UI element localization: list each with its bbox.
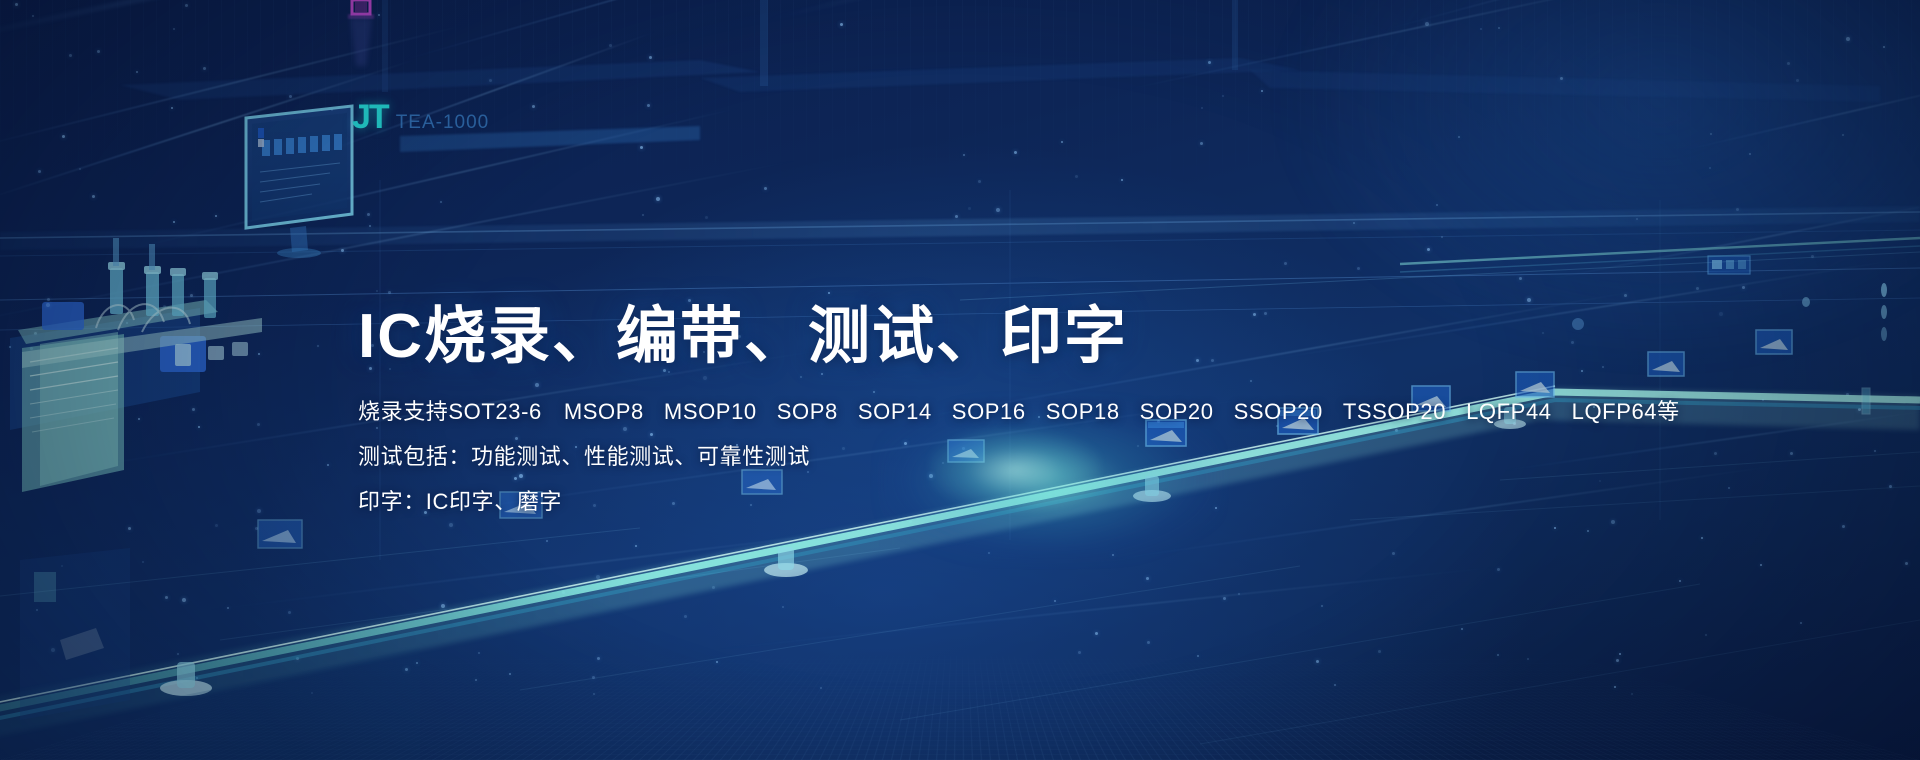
package-type-msop10: MSOP10 xyxy=(664,401,757,423)
ceiling-structures xyxy=(120,0,1880,102)
package-type-list: MSOP8MSOP10SOP8SOP14SOP16SOP18SOP20SSOP2… xyxy=(564,399,1680,424)
burn-support-label: 烧录支持SOT23-6 xyxy=(358,399,542,424)
left-machinery-unit xyxy=(10,238,262,492)
burn-support-line: 烧录支持SOT23-6MSOP8MSOP10SOP8SOP14SOP16SOP1… xyxy=(358,401,1618,423)
package-type-sop16: SOP16 xyxy=(952,401,1026,423)
package-type-lqfp64: LQFP64等 xyxy=(1572,401,1680,423)
package-type-msop8: MSOP8 xyxy=(564,401,644,423)
equipment-model-label: TEA-1000 xyxy=(396,112,490,134)
upper-conveyor-line xyxy=(960,238,1920,300)
package-type-tssop20: TSSOP20 xyxy=(1343,401,1446,423)
hero-banner: JT TEA-1000 IC烧录、编带、测试、印字 烧录支持SOT23-6MSO… xyxy=(0,0,1920,760)
package-type-sop18: SOP18 xyxy=(1046,401,1120,423)
marking-scope-line: 印字：IC印字、磨字 xyxy=(358,491,1618,513)
brand-logo-jt: JT xyxy=(352,98,388,137)
banner-subtitle-group: 烧录支持SOT23-6MSOP8MSOP10SOP8SOP14SOP16SOP1… xyxy=(358,401,1618,513)
package-type-sop20: SOP20 xyxy=(1140,401,1214,423)
page-title: IC烧录、编带、测试、印字 xyxy=(358,300,1618,373)
banner-content: IC烧录、编带、测试、印字 烧录支持SOT23-6MSOP8MSOP10SOP8… xyxy=(358,300,1618,513)
test-scope-line: 测试包括：功能测试、性能测试、可靠性测试 xyxy=(358,446,1618,468)
equipment-brand-block: JT TEA-1000 xyxy=(352,98,489,137)
package-type-ssop20: SSOP20 xyxy=(1234,401,1323,423)
package-type-sop14: SOP14 xyxy=(858,401,932,423)
package-type-lqfp44: LQFP44 xyxy=(1466,401,1552,423)
status-lamp-indicator xyxy=(348,0,374,66)
package-type-sop8: SOP8 xyxy=(777,401,838,423)
